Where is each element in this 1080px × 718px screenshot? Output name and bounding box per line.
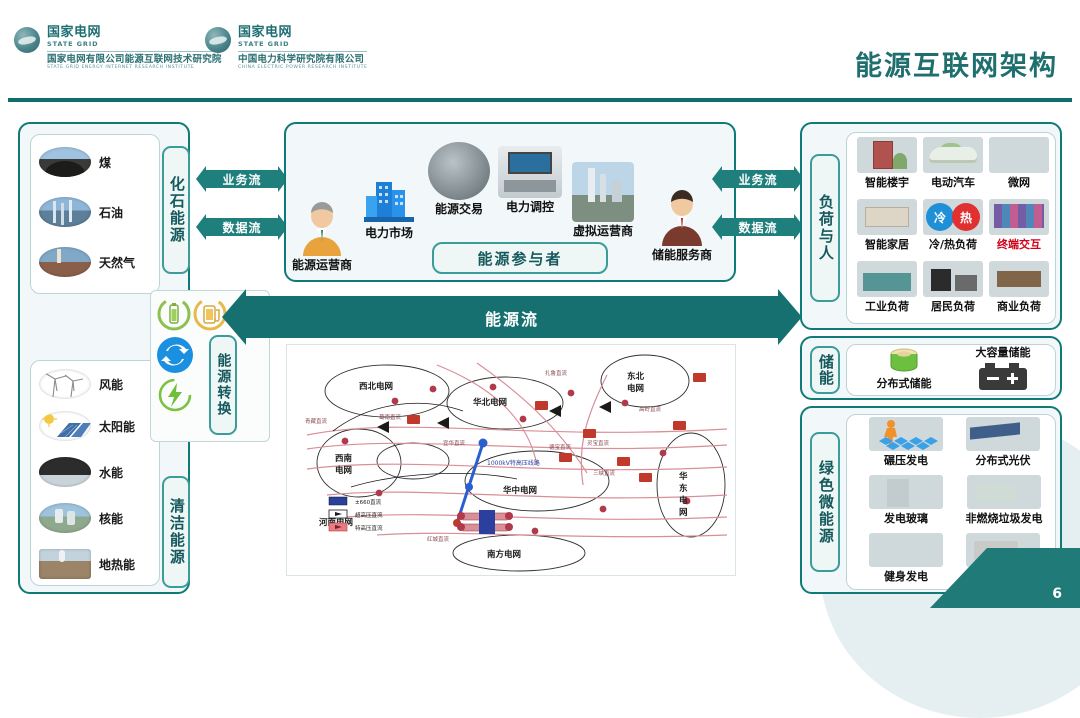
microgrid-icon [989, 137, 1049, 173]
non-burning-waste-power-icon [967, 475, 1041, 509]
energy-storage-panel: 分布式储能 大容量储能 储能 [800, 336, 1062, 400]
virtual-operator-icon [572, 162, 634, 222]
source-item-coal: 煤 [39, 147, 111, 177]
national-grid-map: 西北电网 西南电网 华北电网 东北电网 河南电网 华中电网 华东电网 南方电网 … [286, 344, 736, 576]
participant-label: 电力市场 [360, 224, 418, 241]
load-cell-residential: 居民负荷 [917, 261, 989, 314]
industrial-load-icon [857, 261, 917, 297]
terminal-interaction-icon [989, 199, 1049, 235]
energy-participants-panel: 能源运营商 电力市场 [284, 122, 736, 282]
svg-text:电网: 电网 [627, 383, 644, 394]
cell-label: 微网 [983, 174, 1055, 190]
svg-text:特高压直流: 特高压直流 [355, 524, 383, 532]
page-number: 6 [1052, 586, 1062, 602]
wind-turbine-icon [39, 369, 91, 399]
energy-flow-label: 能源流 [222, 306, 802, 330]
svg-text:电网: 电网 [335, 465, 352, 476]
source-label: 核能 [99, 510, 123, 527]
source-item-wind: 风能 [39, 369, 123, 399]
arrow-label: 业务流 [738, 171, 777, 188]
distributed-pv-icon [966, 417, 1040, 451]
power-dispatch-icon [498, 146, 562, 198]
svg-text:德宝直流: 德宝直流 [549, 443, 572, 451]
operator-person-icon [293, 200, 351, 256]
clean-energy-group: 风能 太阳能 水能 核 [30, 360, 160, 586]
large-battery-icon [977, 361, 1029, 391]
svg-text:灵宝直流: 灵宝直流 [587, 439, 610, 447]
storage-cell-large: 大容量储能 [955, 344, 1051, 391]
logo-subtitle-en: CHINA ELECTRIC POWER RESEARCH INSTITUTE [238, 66, 367, 71]
solar-panel-icon [39, 411, 91, 441]
state-grid-logo-icon [205, 27, 231, 53]
source-label: 太阳能 [99, 418, 135, 435]
lightning-icon [157, 377, 193, 413]
participant-power-dispatch: 电力调控 [498, 146, 562, 215]
svg-text:热: 热 [960, 210, 972, 225]
participant-virtual-operator: 虚拟运营商 [572, 162, 634, 239]
green-cell-power-glass: 发电玻璃 [861, 475, 951, 526]
svg-text:西北电网: 西北电网 [359, 381, 393, 392]
business-flow-arrow-left: 业务流 [196, 166, 288, 192]
business-flow-arrow-right: 业务流 [712, 166, 804, 192]
power-market-building-icon [360, 176, 418, 224]
arrow-label: 数据流 [222, 219, 261, 236]
storage-cell-distributed: 分布式储能 [861, 347, 947, 391]
source-label: 煤 [99, 154, 111, 171]
energy-participants-label: 能源参与者 [432, 242, 608, 274]
data-flow-arrow-right: 数据流 [712, 214, 804, 240]
coal-icon [39, 147, 91, 177]
data-flow-arrow-left: 数据流 [196, 214, 288, 240]
cell-label: 智能楼宇 [851, 174, 923, 190]
participant-label: 能源运营商 [292, 256, 352, 273]
logo-cn-name: 国家电网 [47, 26, 222, 39]
source-label: 风能 [99, 376, 123, 393]
source-item-gas: 天然气 [39, 247, 135, 277]
residential-load-icon [923, 261, 983, 297]
svg-text:超高压直流: 超高压直流 [355, 511, 383, 519]
energy-trading-icon [428, 142, 490, 200]
clean-energy-label: 清洁能源 [162, 476, 190, 588]
logo-en-name: STATE GRID [47, 41, 222, 48]
recycle-icon [157, 337, 193, 373]
state-grid-logo-icon [14, 27, 40, 53]
energy-conversion-label: 能源转换 [209, 335, 237, 435]
participant-power-market: 电力市场 [360, 176, 418, 241]
svg-text:高岭直流: 高岭直流 [639, 405, 662, 413]
hydropower-icon [39, 457, 91, 487]
logo-subtitle-cn: 中国电力科学研究院有限公司 [238, 55, 367, 65]
svg-text:南方电网: 南方电网 [487, 549, 521, 560]
load-grid: 智能楼宇 电动汽车 微网 智能家居 冷 热 [846, 132, 1056, 324]
logo-state-grid-cepri: 国家电网 STATE GRID 中国电力科学研究院有限公司 CHINA ELEC… [205, 26, 367, 71]
svg-text:±660直流: ±660直流 [355, 498, 382, 506]
participant-storage-provider: 储能服务商 [652, 186, 712, 263]
natural-gas-icon [39, 247, 91, 277]
cell-label: 分布式光伏 [957, 452, 1049, 468]
load-cell-cold-heat: 冷 热 冷/热负荷 [917, 199, 989, 252]
source-label: 天然气 [99, 254, 135, 271]
svg-text:华北电网: 华北电网 [473, 397, 507, 408]
green-cell-fitness-power: 健身发电 [861, 533, 951, 584]
nuclear-plant-icon [39, 503, 91, 533]
smart-building-icon [857, 137, 917, 173]
source-label: 地热能 [99, 556, 135, 573]
svg-text:葛南直流: 葛南直流 [379, 413, 402, 421]
load-and-people-panel: 智能楼宇 电动汽车 微网 智能家居 冷 热 [800, 122, 1062, 330]
logo-divider [238, 51, 367, 52]
cell-label: 碾压发电 [861, 452, 951, 468]
logo-cn-name: 国家电网 [238, 26, 367, 39]
participant-label: 虚拟运营商 [572, 222, 634, 239]
source-label: 石油 [99, 204, 123, 221]
cell-label: 大容量储能 [955, 344, 1051, 360]
source-label: 水能 [99, 464, 123, 481]
svg-text:网: 网 [679, 508, 688, 518]
cell-label: 智能家居 [851, 236, 923, 252]
svg-text:东北: 东北 [627, 371, 645, 382]
cell-label: 电动汽车 [917, 174, 989, 190]
logo-subtitle-cn: 国家电网有限公司能源互联网技术研究院 [47, 55, 222, 65]
load-cell-smart-home: 智能家居 [851, 199, 923, 252]
battery-icon [157, 297, 191, 331]
source-item-solar: 太阳能 [39, 411, 135, 441]
power-glass-icon [869, 475, 943, 509]
fossil-energy-label: 化石能源 [162, 146, 190, 274]
title-underline [8, 98, 1072, 102]
logo-subtitle-en: STATE GRID ENERGY INTERNET RESEARCH INST… [47, 66, 222, 71]
load-cell-terminal-interaction: 终端交互 [983, 199, 1055, 252]
cell-label: 工业负荷 [851, 298, 923, 314]
logo-divider [47, 51, 222, 52]
svg-text:华中电网: 华中电网 [503, 485, 537, 496]
cell-label: 分布式储能 [861, 375, 947, 391]
load-cell-microgrid: 微网 [983, 137, 1055, 190]
commercial-load-icon [989, 261, 1049, 297]
logo-state-grid-eiri: 国家电网 STATE GRID 国家电网有限公司能源互联网技术研究院 STATE… [14, 26, 222, 71]
diagram-canvas: 煤 石油 天然气 [0, 104, 1080, 608]
cell-label: 终端交互 [983, 236, 1055, 252]
arrow-label: 业务流 [222, 171, 261, 188]
participant-label: 能源交易 [428, 200, 490, 217]
green-cell-waste-power: 非燃烧垃圾发电 [955, 475, 1053, 526]
page-header: 国家电网 STATE GRID 国家电网有限公司能源互联网技术研究院 STATE… [0, 0, 1080, 100]
load-and-people-label: 负荷与人 [810, 154, 840, 302]
source-item-oil: 石油 [39, 197, 123, 227]
road-press-power-icon [869, 417, 943, 451]
svg-text:1000kV特高压线路: 1000kV特高压线路 [487, 459, 540, 467]
cell-label: 健身发电 [861, 568, 951, 584]
svg-text:宜华直流: 宜华直流 [443, 439, 466, 447]
load-cell-commercial: 商业负荷 [983, 261, 1055, 314]
svg-text:电: 电 [679, 495, 688, 506]
energy-flow-arrow: 能源流 [222, 296, 802, 338]
source-item-hydro: 水能 [39, 457, 123, 487]
svg-text:冷: 冷 [934, 210, 946, 225]
cold-heat-load-icon: 冷 热 [923, 199, 983, 235]
energy-storage-label: 储能 [810, 346, 840, 394]
svg-text:青藏直流: 青藏直流 [305, 417, 328, 425]
participant-label: 电力调控 [498, 198, 562, 215]
green-cell-road-press: 碾压发电 [861, 417, 951, 468]
participant-energy-trading: 能源交易 [428, 142, 490, 217]
green-cell-distributed-pv: 分布式光伏 [957, 417, 1049, 468]
logo-en-name: STATE GRID [238, 41, 367, 48]
cell-label: 非燃烧垃圾发电 [955, 510, 1053, 526]
participant-energy-operator: 能源运营商 [292, 200, 352, 273]
fossil-energy-group: 煤 石油 天然气 [30, 134, 160, 294]
cell-label: 商业负荷 [983, 298, 1055, 314]
storage-provider-person-icon [653, 186, 711, 246]
svg-text:扎鲁直流: 扎鲁直流 [545, 369, 568, 377]
smart-home-icon [857, 199, 917, 235]
svg-text:西南: 西南 [335, 453, 353, 464]
cell-label: 冷/热负荷 [917, 236, 989, 252]
fitness-power-icon [869, 533, 943, 567]
page-title: 能源互联网架构 [855, 44, 1058, 83]
load-cell-industrial: 工业负荷 [851, 261, 923, 314]
electric-vehicle-icon [923, 137, 983, 173]
distributed-storage-icon [887, 347, 921, 375]
cell-label: 居民负荷 [917, 298, 989, 314]
source-item-geothermal: 地热能 [39, 549, 135, 579]
geothermal-icon [39, 549, 91, 579]
storage-group: 分布式储能 大容量储能 [846, 344, 1056, 396]
green-micro-energy-label: 绿色微能源 [810, 432, 840, 572]
oil-icon [39, 197, 91, 227]
svg-text:东: 东 [679, 483, 688, 494]
arrow-label: 数据流 [738, 219, 777, 236]
svg-text:三峡直流: 三峡直流 [593, 469, 616, 477]
cell-label: 发电玻璃 [861, 510, 951, 526]
svg-text:华: 华 [679, 471, 688, 482]
source-item-nuclear: 核能 [39, 503, 123, 533]
participant-label: 储能服务商 [652, 246, 712, 263]
svg-text:红城直流: 红城直流 [427, 535, 450, 543]
load-cell-smart-building: 智能楼宇 [851, 137, 923, 190]
load-cell-electric-vehicle: 电动汽车 [917, 137, 989, 190]
